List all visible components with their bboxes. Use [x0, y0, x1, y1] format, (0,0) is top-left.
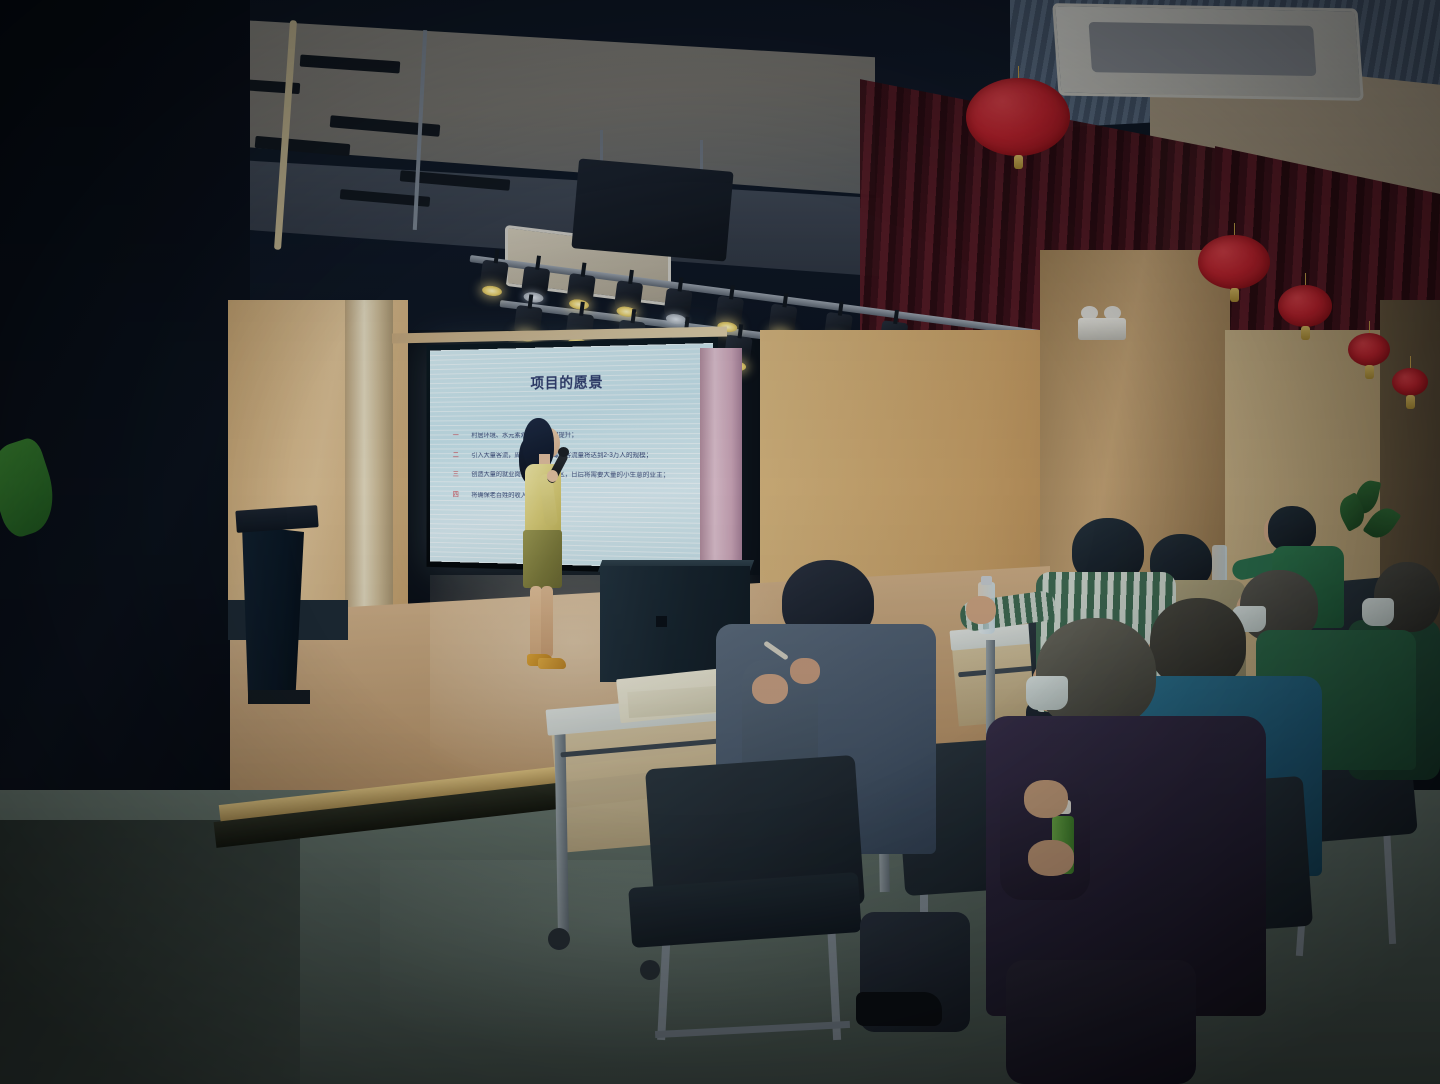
slide-bullet-number: 三: [449, 471, 463, 478]
ac-cassette-vent: [1089, 22, 1317, 76]
emergency-light-body: [1078, 318, 1126, 340]
presenter-hand: [547, 470, 558, 482]
red-lantern-icon: [1348, 333, 1390, 366]
stage-light-icon: [521, 266, 551, 299]
slide-bullet-item: 一 村居环境、水元素观将有极大的提升；: [449, 431, 705, 440]
slide-bullet-number: 一: [449, 432, 463, 439]
attendee-hand: [1028, 840, 1074, 876]
slide-bullet-list: 一 村居环境、水元素观将有极大的提升； 二 引入大量客流，周末及节假日每天客流量…: [449, 431, 705, 515]
stage-light-icon: [614, 280, 644, 313]
column-pink: [700, 348, 742, 583]
slide-bullet-item: 二 引入大量客流，周末及节假日每天客流量将达到2-3万人的规模；: [449, 452, 705, 460]
bottle-cap: [981, 576, 992, 585]
hanging-speaker-block: [571, 158, 733, 261]
led-screen[interactable]: 项目的愿景 一 村居环境、水元素观将有极大的提升； 二 引入大量客流，周末及节假…: [430, 343, 713, 569]
lectern-base: [248, 690, 310, 704]
slide-bullet-number: 四: [449, 492, 463, 499]
attendee-shoe: [856, 992, 942, 1026]
cabinet-handle-icon: [656, 616, 667, 627]
attendee-hand: [1024, 780, 1068, 818]
presenter: [505, 412, 567, 674]
slide-bullet-number: 二: [449, 452, 463, 459]
red-lantern-icon: [1392, 368, 1428, 396]
attendee-head: [1150, 598, 1246, 688]
red-lantern-icon: [1198, 235, 1270, 289]
red-lantern-icon: [1278, 285, 1332, 327]
attendee-hand: [966, 596, 996, 624]
potted-plant: [1338, 480, 1402, 560]
presenter-shoe: [538, 658, 566, 669]
table-caster: [548, 928, 570, 950]
attendee-hand: [790, 658, 820, 684]
presenter-skirt: [523, 530, 562, 588]
stage-light-icon: [479, 260, 509, 293]
red-lantern-icon: [966, 78, 1070, 156]
attendee-hand: [752, 674, 788, 704]
floor-shadow-left: [0, 820, 300, 1084]
slide-bullet-text: 创造大量的就业岗位，在民俗街区，日后将需要大量的小生意的业主；: [471, 471, 669, 479]
attendee-head: [1036, 618, 1156, 728]
table-caster: [640, 960, 660, 980]
microphone-head: [558, 447, 569, 457]
slide-bullet-item: 三 创造大量的就业岗位，在民俗街区，日后将需要大量的小生意的业主；: [449, 471, 705, 480]
photo-scene: 项目的愿景 一 村居环境、水元素观将有极大的提升； 二 引入大量客流，周末及节假…: [0, 0, 1440, 1084]
attendee-leg: [1006, 960, 1196, 1084]
presenter-leg: [541, 586, 553, 658]
column-left: [345, 300, 393, 630]
face-mask-icon: [1362, 598, 1394, 626]
lectern[interactable]: [242, 525, 304, 700]
face-mask-icon: [1026, 676, 1068, 710]
slide-bullet-item: 四 将确保老百姓的收入稳定增长；: [449, 492, 705, 502]
